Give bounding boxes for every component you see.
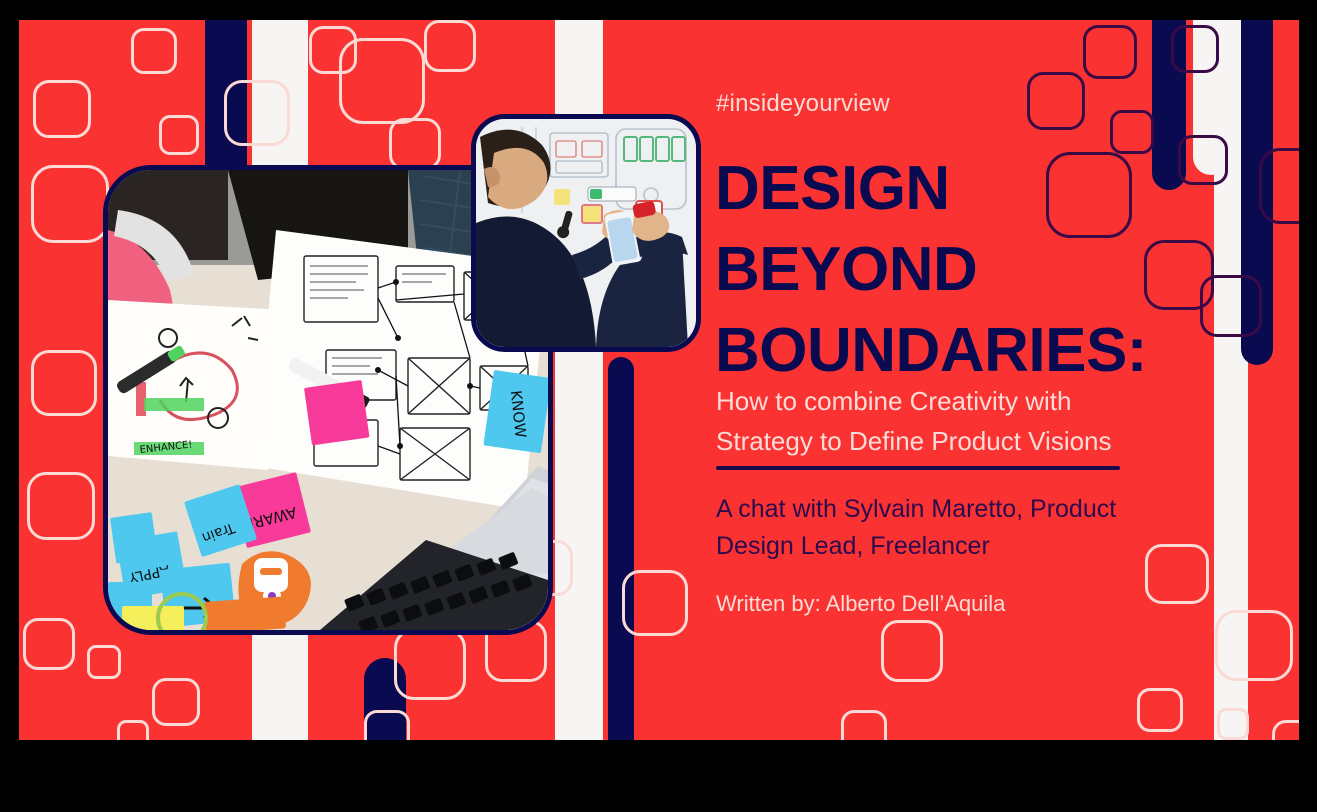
title-line-1: DESIGN (715, 148, 1295, 229)
deco-square (159, 115, 199, 155)
navy-bar-middle (608, 357, 634, 740)
whiteboard-session-illustration (476, 119, 696, 347)
speaker-line-2: Design Lead, Freelancer (716, 528, 1216, 565)
whiteboard-session-photo (471, 114, 701, 352)
subtitle-line-1: How to combine Creativity with (716, 381, 1276, 421)
deco-square (339, 38, 425, 124)
deco-square (23, 618, 75, 670)
deco-square (31, 350, 97, 416)
presentation-slide: ENHANCE! AWARE (19, 20, 1299, 740)
title-line-3: BOUNDARIES: (715, 310, 1295, 391)
speaker-line-1: A chat with Sylvain Maretto, Product (716, 491, 1216, 528)
deco-square (364, 710, 410, 740)
deco-square (152, 678, 200, 726)
deco-square (424, 20, 476, 72)
hashtag-label: #insideyourview (716, 90, 890, 118)
speaker-credit: A chat with Sylvain Maretto, Product Des… (716, 491, 1216, 565)
screenshot-frame: ENHANCE! AWARE (0, 0, 1317, 812)
deco-square (622, 570, 688, 636)
divider (716, 466, 1120, 470)
deco-square (389, 118, 441, 170)
slide-text-column: #insideyourview DESIGN BEYOND BOUNDARIES… (697, 20, 1299, 740)
title-line-2: BEYOND (715, 229, 1295, 310)
deco-square (224, 80, 290, 146)
deco-square (33, 80, 91, 138)
subtitle-line-2: Strategy to Define Product Visions (716, 421, 1276, 461)
deco-square (131, 28, 177, 74)
author-credit: Written by: Alberto Dell’Aquila (716, 588, 1236, 620)
deco-square (394, 628, 466, 700)
subtitle: How to combine Creativity with Strategy … (716, 381, 1276, 461)
deco-square (27, 472, 95, 540)
deco-square (117, 720, 149, 740)
page-title: DESIGN BEYOND BOUNDARIES: (715, 148, 1295, 391)
deco-square (87, 645, 121, 679)
deco-square (31, 165, 109, 243)
